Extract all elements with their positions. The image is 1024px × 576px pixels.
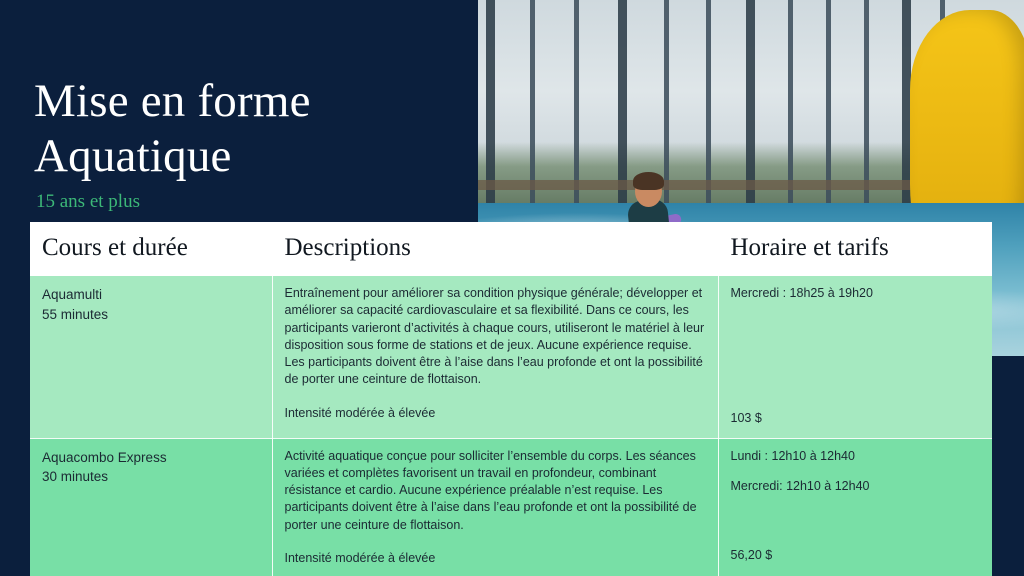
cell-course: Aquacombo Express 30 minutes xyxy=(30,438,272,576)
course-name: Aquacombo Express xyxy=(42,448,259,468)
window-mullion xyxy=(706,0,711,203)
table-row: Aquacombo Express 30 minutes Activité aq… xyxy=(30,438,992,576)
title-block: Mise en forme Aquatique 15 ans et plus xyxy=(34,74,464,213)
instructor-hair xyxy=(633,172,664,190)
course-description: Activité aquatique conçue pour sollicite… xyxy=(285,448,705,534)
schedule-entry: Lundi : 12h10 à 12h40 xyxy=(731,448,980,465)
course-name: Aquamulti xyxy=(42,285,259,305)
page-subtitle: 15 ans et plus xyxy=(36,191,464,213)
column-header-course: Cours et durée xyxy=(30,222,272,276)
window-mullion xyxy=(788,0,793,203)
window-mullion xyxy=(826,0,831,203)
window-mullion xyxy=(746,0,755,203)
course-duration: 30 minutes xyxy=(42,467,259,487)
course-duration: 55 minutes xyxy=(42,305,259,325)
course-schedule-table: Cours et durée Descriptions Horaire et t… xyxy=(30,222,992,576)
course-price: 56,20 $ xyxy=(731,547,980,564)
schedule-spacer xyxy=(731,465,980,478)
course-price: 103 $ xyxy=(731,410,980,427)
cell-description: Entraînement pour améliorer sa condition… xyxy=(272,276,718,438)
window-mullion xyxy=(574,0,579,203)
schedule-entry: Mercredi : 18h25 à 19h20 xyxy=(731,285,980,302)
schedule-entry: Mercredi: 12h10 à 12h40 xyxy=(731,478,980,495)
cell-course: Aquamulti 55 minutes xyxy=(30,276,272,438)
window-mullion xyxy=(864,0,869,203)
column-header-description: Descriptions xyxy=(272,222,718,276)
window-mullion xyxy=(530,0,535,203)
window-mullion xyxy=(618,0,627,203)
cell-schedule: Lundi : 12h10 à 12h40 Mercredi: 12h10 à … xyxy=(718,438,992,576)
window-mullion xyxy=(664,0,669,203)
course-intensity: Intensité modérée à élevée xyxy=(285,550,705,567)
cell-description: Activité aquatique conçue pour sollicite… xyxy=(272,438,718,576)
column-header-schedule: Horaire et tarifs xyxy=(718,222,992,276)
slide-canvas: Mise en forme Aquatique 15 ans et plus C… xyxy=(0,0,1024,576)
course-intensity: Intensité modérée à élevée xyxy=(285,405,705,422)
page-title: Mise en forme Aquatique xyxy=(34,74,464,184)
course-description: Entraînement pour améliorer sa condition… xyxy=(285,285,705,389)
title-line-2: Aquatique xyxy=(34,130,232,182)
cell-schedule: Mercredi : 18h25 à 19h20 103 $ xyxy=(718,276,992,438)
table-header-row: Cours et durée Descriptions Horaire et t… xyxy=(30,222,992,276)
window-mullion xyxy=(486,0,495,203)
title-line-1: Mise en forme xyxy=(34,75,311,127)
table-row: Aquamulti 55 minutes Entraînement pour a… xyxy=(30,276,992,438)
